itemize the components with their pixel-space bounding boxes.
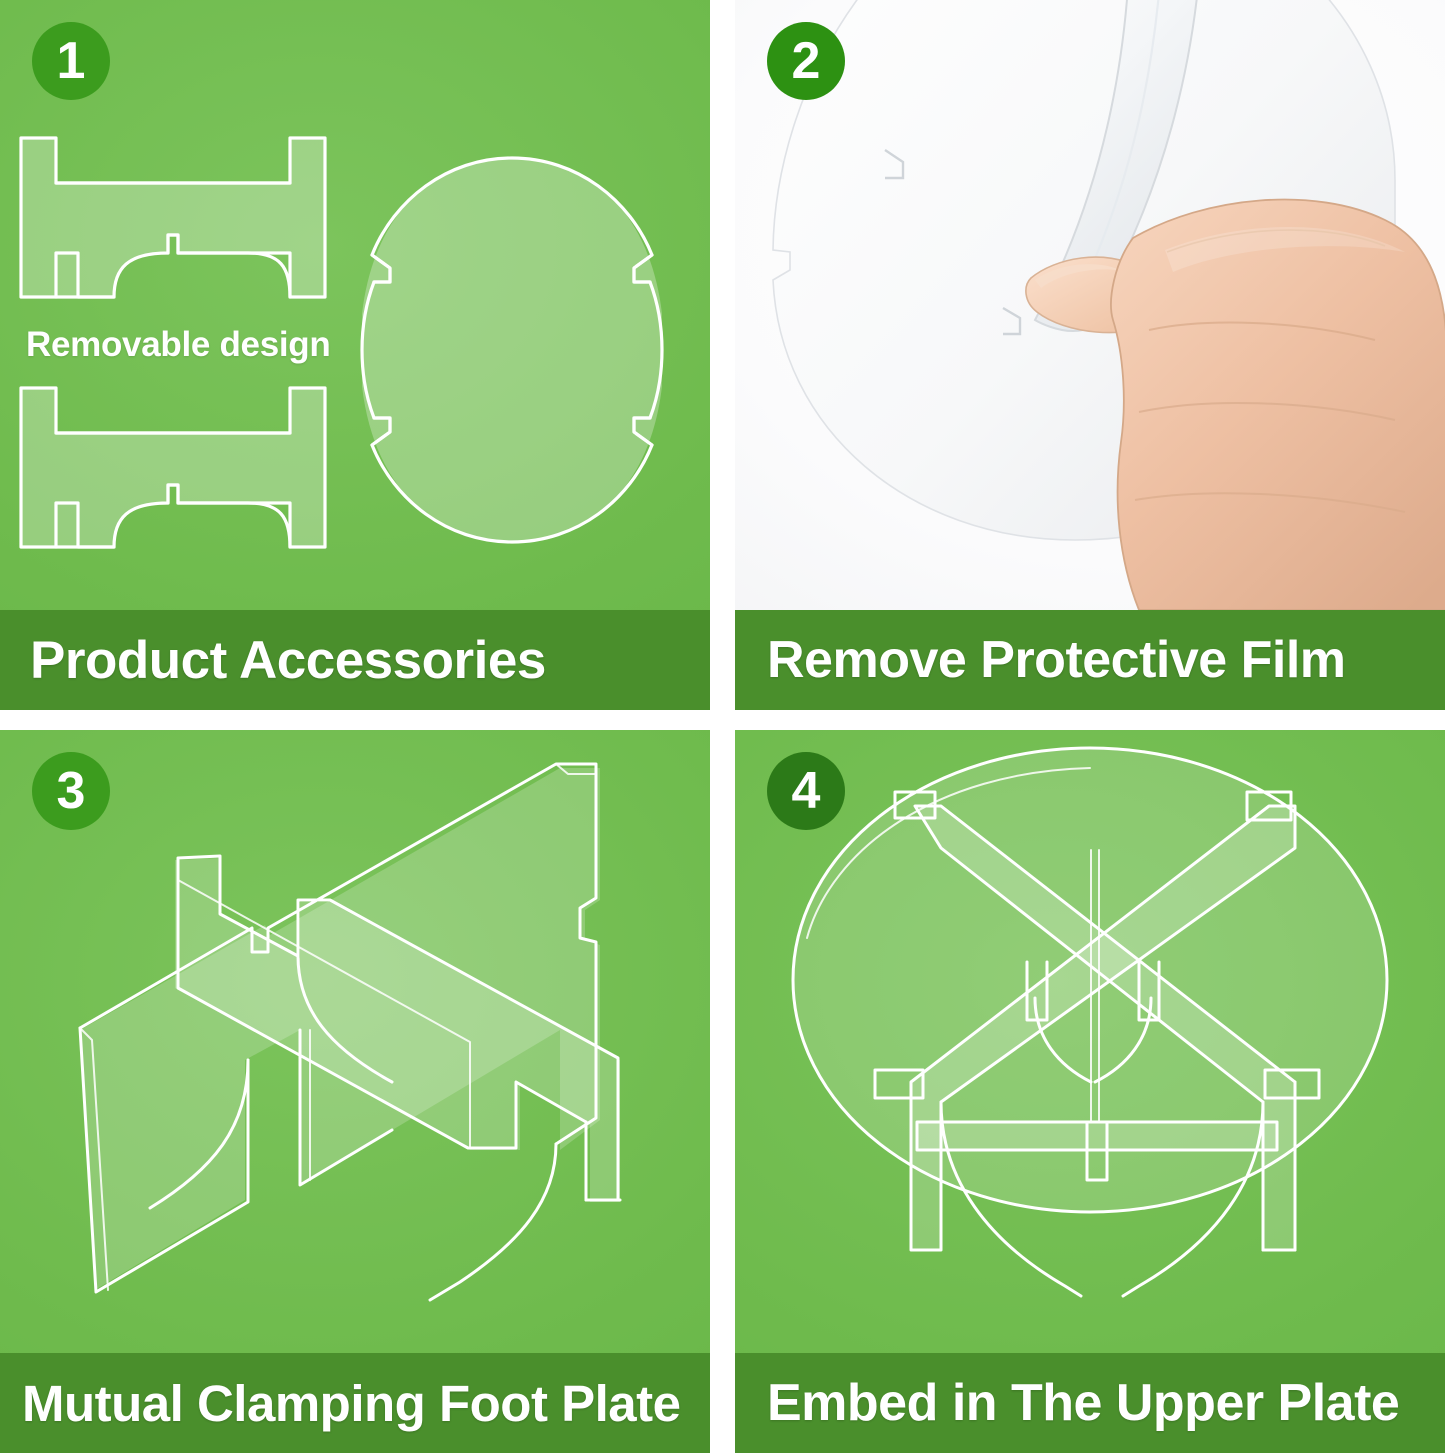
round-upper-plate-icon: [352, 150, 672, 550]
step-1-artwork-stage: 1 Removable design: [0, 0, 710, 610]
step-number-badge-3: 3: [32, 752, 110, 830]
step-panel-1: 1 Removable design: [0, 0, 710, 710]
step-2-caption: Remove Protective Film: [735, 610, 1445, 710]
step-number-badge-4: 4: [767, 752, 845, 830]
step-number-badge-1: 1: [32, 22, 110, 100]
crossed-foot-plates-diagram: [0, 730, 710, 1340]
assembled-stand-diagram: [735, 730, 1445, 1340]
step-2-artwork-stage: 2: [735, 0, 1445, 610]
step-panel-grid: 1 Removable design: [0, 0, 1445, 1453]
assembly-instructions-infographic: 1 Removable design: [0, 0, 1445, 1453]
step-number-badge-2: 2: [767, 22, 845, 100]
step-panel-3: 3: [0, 730, 710, 1453]
foot-plate-leg-bottom-icon: [18, 385, 328, 550]
step-3-caption: Mutual Clamping Foot Plate: [0, 1353, 710, 1453]
step-panel-2: 2: [735, 0, 1445, 710]
remove-film-photo: [735, 0, 1445, 610]
removable-design-label: Removable design: [26, 325, 330, 365]
step-4-artwork-stage: 4: [735, 730, 1445, 1353]
step-1-caption: Product Accessories: [0, 610, 710, 710]
step-3-artwork-stage: 3: [0, 730, 710, 1353]
step-4-caption: Embed in The Upper Plate: [735, 1353, 1445, 1453]
step-panel-4: 4: [735, 730, 1445, 1453]
foot-plate-leg-top-icon: [18, 135, 328, 300]
